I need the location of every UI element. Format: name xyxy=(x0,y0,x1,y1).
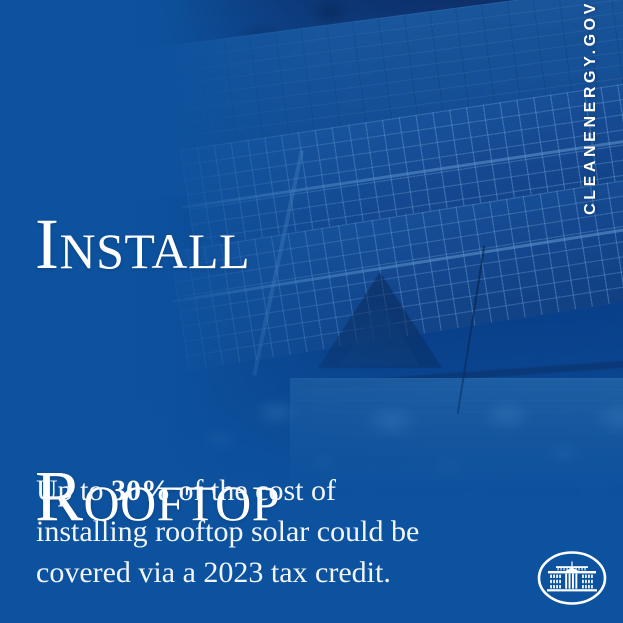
body-line-1-suffix: of the cost of xyxy=(171,474,336,507)
website-url-label: CLEANENERGY.GOV xyxy=(582,0,600,215)
website-url-vertical[interactable]: CLEANENERGY.GOV xyxy=(571,0,611,360)
body-line-3: covered via a 2023 tax credit. xyxy=(36,552,496,593)
headline-line-1: Install xyxy=(35,202,280,286)
body-copy: Up to 30% of the cost of installing roof… xyxy=(36,470,496,593)
body-line-1-prefix: Up to xyxy=(36,474,111,507)
body-line-1: Up to 30% of the cost of xyxy=(36,470,496,511)
white-house-seal-icon xyxy=(536,550,608,606)
percent-highlight: 30% xyxy=(111,474,171,507)
solar-tax-credit-poster: Install Rooftop Solar CLEANENERGY.GOV Up… xyxy=(0,0,623,623)
body-line-2: installing rooftop solar could be xyxy=(36,511,496,552)
